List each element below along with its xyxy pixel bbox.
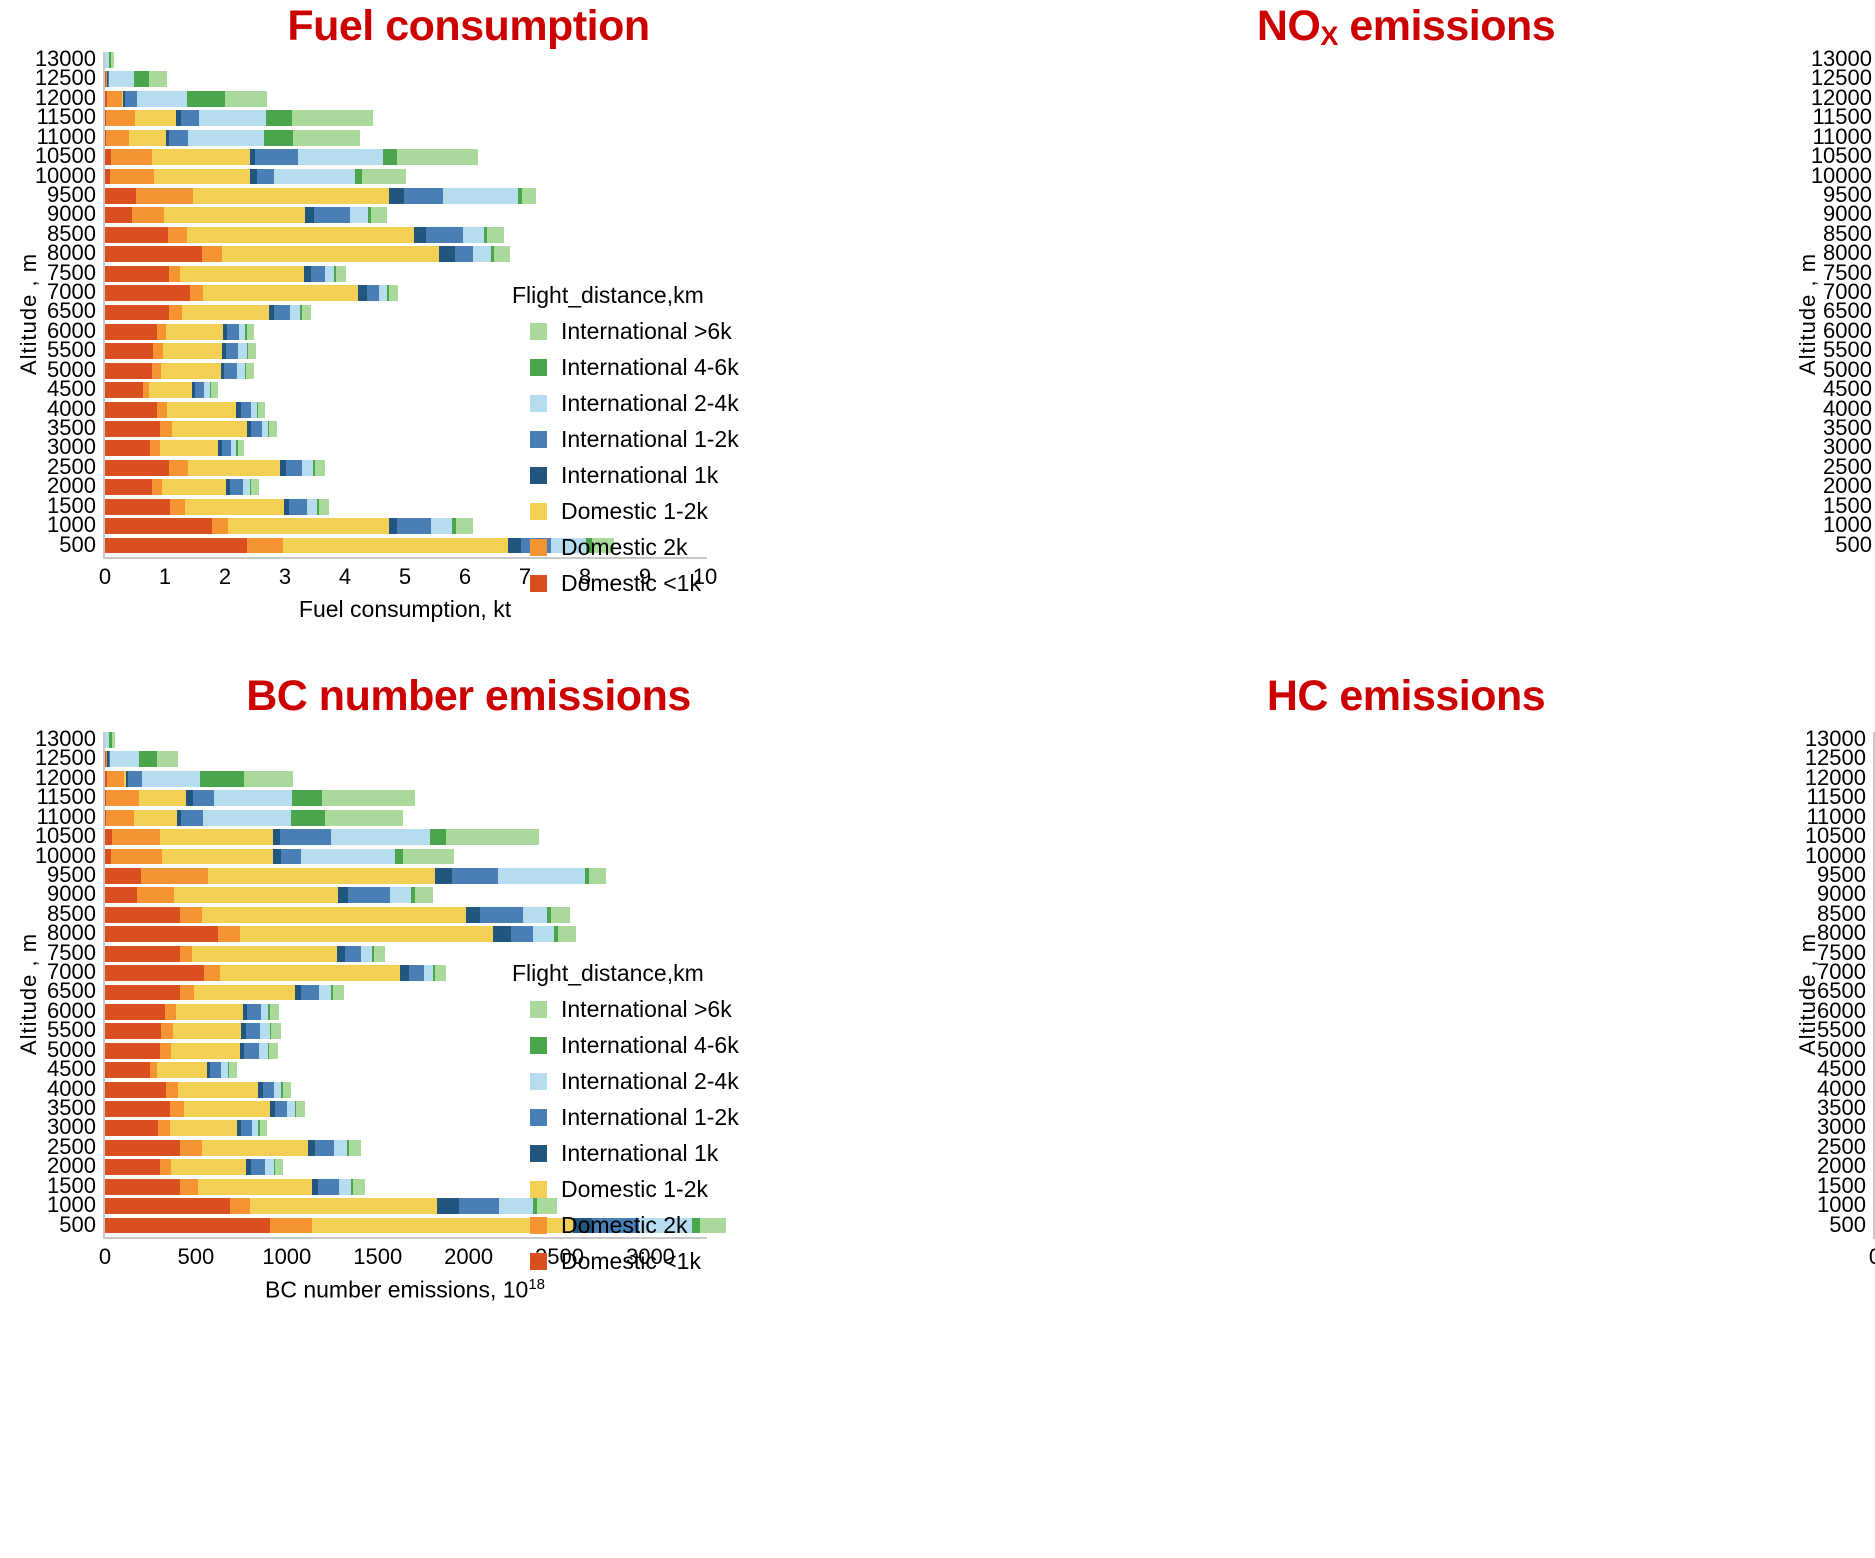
bar-segment <box>135 110 176 126</box>
x-axis-tick-label: 500 <box>178 1244 215 1270</box>
legend-swatch-icon <box>530 1001 547 1018</box>
bar-segment <box>105 1218 270 1234</box>
bar-segment <box>251 421 262 437</box>
bar-segment <box>157 402 167 418</box>
bar-segment <box>125 91 137 107</box>
chart-title: HC emissions <box>937 672 1875 721</box>
bar-segment <box>244 771 293 787</box>
bar-segment <box>150 440 160 456</box>
bar-segment <box>362 169 406 185</box>
bar-segment <box>190 285 203 301</box>
chart-grid: Fuel consumptionAltitude , m130001250012… <box>0 0 1875 1558</box>
bar-segment <box>298 149 383 165</box>
legend-item[interactable]: Domestic 1-2k <box>512 498 739 525</box>
bar-segment <box>187 91 225 107</box>
bar-segment <box>105 382 143 398</box>
bar-segment <box>180 985 195 1001</box>
bar-segment <box>241 402 251 418</box>
bar-segment <box>353 1179 365 1195</box>
bar-segment <box>202 246 222 262</box>
bar-segment <box>164 207 305 223</box>
bar-segment <box>105 518 212 534</box>
bar-row <box>105 91 267 107</box>
bar-row <box>105 440 244 456</box>
bar-segment <box>269 1043 278 1059</box>
bar-segment <box>136 188 193 204</box>
legend-swatch-icon <box>530 1037 547 1054</box>
bar-segment <box>455 246 474 262</box>
bar-segment <box>204 965 219 981</box>
bar-segment <box>160 421 172 437</box>
bar-segment <box>211 382 218 398</box>
bar-row <box>105 130 360 146</box>
bar-segment <box>220 965 400 981</box>
panel-hc-emissions: HC emissionsAltitude , m1300012500120001… <box>937 660 1875 1558</box>
y-axis-tick-label: 500 <box>1784 534 1875 556</box>
bar-row <box>105 907 570 923</box>
bar-segment <box>158 1120 170 1136</box>
chart-title: Fuel consumption <box>0 2 937 51</box>
bar-segment <box>111 149 152 165</box>
bar-segment <box>260 1023 270 1039</box>
bar-segment <box>459 1198 499 1214</box>
bar-segment <box>218 926 241 942</box>
bar-row <box>105 207 387 223</box>
bar-segment <box>251 1159 266 1175</box>
bar-segment <box>162 849 273 865</box>
bar-segment <box>397 149 477 165</box>
legend-item-label: International 2-4k <box>561 390 739 417</box>
bar-segment <box>105 1198 230 1214</box>
bar-segment <box>105 266 169 282</box>
bar-segment <box>150 1062 158 1078</box>
bar-segment <box>105 246 202 262</box>
legend-item[interactable]: International 1-2k <box>512 1104 739 1131</box>
bar-segment <box>105 868 141 884</box>
bar-segment <box>435 965 446 981</box>
legend-item[interactable]: International 1k <box>512 1140 739 1167</box>
bar-row <box>105 305 311 321</box>
bar-segment <box>374 946 385 962</box>
bar-segment <box>154 169 250 185</box>
bar-segment <box>105 1179 180 1195</box>
bar-segment <box>109 71 134 87</box>
bar-segment <box>367 285 380 301</box>
bar-row <box>105 285 398 301</box>
bar-row <box>105 52 114 68</box>
bar-segment <box>339 1179 350 1195</box>
bar-segment <box>348 887 390 903</box>
legend-swatch-icon <box>530 575 547 592</box>
panel-nox-emissions: NOX emissionsAltitude , m130001250012000… <box>937 0 1875 660</box>
bar-segment <box>105 324 157 340</box>
bar-segment <box>304 266 311 282</box>
bar-row <box>105 771 293 787</box>
legend-item[interactable]: International 2-4k <box>512 390 739 417</box>
bar-row <box>105 343 256 359</box>
bar-segment <box>250 169 257 185</box>
bar-segment <box>494 246 510 262</box>
legend-swatch-icon <box>530 1145 547 1162</box>
bar-segment <box>194 985 295 1001</box>
bar-segment <box>389 285 398 301</box>
bar-row <box>105 1062 237 1078</box>
bar-segment <box>188 460 279 476</box>
bar-segment <box>533 926 554 942</box>
bar-segment <box>246 363 254 379</box>
bar-segment <box>302 305 311 321</box>
bar-segment <box>208 868 435 884</box>
x-axis-tick-label: 6 <box>459 564 471 590</box>
bar-segment <box>132 207 164 223</box>
bar-segment <box>169 266 180 282</box>
bar-segment <box>244 1043 259 1059</box>
legend-swatch-icon <box>530 359 547 376</box>
bar-segment <box>325 810 402 826</box>
legend-item-label: International 2-4k <box>561 1068 739 1095</box>
bar-segment <box>308 1140 315 1156</box>
x-axis-title: NOX emissions, t <box>1761 596 1875 627</box>
legend-item[interactable]: Domestic 2k <box>512 1212 739 1239</box>
bar-segment <box>415 887 433 903</box>
legend-item[interactable]: Domestic <1k <box>512 1248 739 1275</box>
bar-segment <box>187 227 414 243</box>
bar-segment <box>301 985 319 1001</box>
bar-segment <box>149 71 167 87</box>
bar-segment <box>180 946 193 962</box>
bar-segment <box>263 1082 275 1098</box>
bar-row <box>105 887 433 903</box>
legend-item-label: Domestic <1k <box>561 570 701 597</box>
panel-bc-number-emissions: BC number emissionsAltitude , m130001250… <box>0 660 937 1558</box>
bar-segment <box>222 440 231 456</box>
bar-segment <box>203 810 292 826</box>
bar-segment <box>105 1023 161 1039</box>
bar-segment <box>397 518 431 534</box>
bar-segment <box>280 829 331 845</box>
bar-segment <box>230 479 243 495</box>
legend-item[interactable]: International 1k <box>512 462 739 489</box>
bar-segment <box>404 188 443 204</box>
bar-segment <box>106 130 129 146</box>
panel-fuel-consumption: Fuel consumptionAltitude , m130001250012… <box>0 0 937 660</box>
bar-segment <box>274 169 355 185</box>
bar-segment <box>170 1120 238 1136</box>
bar-segment <box>275 1159 283 1175</box>
bar-segment <box>157 1062 206 1078</box>
bar-row <box>105 169 406 185</box>
bar-segment <box>134 71 150 87</box>
legend-item[interactable]: Domestic 1-2k <box>512 1176 739 1203</box>
bar-segment <box>473 246 491 262</box>
bar-segment <box>195 382 204 398</box>
legend-swatch-icon <box>530 1253 547 1270</box>
bar-segment <box>180 907 203 923</box>
bar-segment <box>202 1140 307 1156</box>
bar-segment <box>160 440 218 456</box>
bar-segment <box>511 926 533 942</box>
bar-segment <box>463 227 483 243</box>
legend-swatch-icon <box>530 1181 547 1198</box>
bar-segment <box>160 829 273 845</box>
legend-item[interactable]: International >6k <box>512 996 739 1023</box>
bar-segment <box>238 343 246 359</box>
bar-segment <box>129 130 166 146</box>
legend-item[interactable]: International 1-2k <box>512 426 739 453</box>
legend-item-label: International 4-6k <box>561 1032 739 1059</box>
legend-swatch-icon <box>530 395 547 412</box>
bar-segment <box>243 479 250 495</box>
bar-segment <box>446 829 540 845</box>
bar-segment <box>498 868 585 884</box>
bar-segment <box>112 732 115 748</box>
bar-segment <box>170 499 185 515</box>
legend-item[interactable]: International 2-4k <box>512 1068 739 1095</box>
bar-segment <box>426 227 463 243</box>
x-axis-tick-label: 0 <box>99 1244 111 1270</box>
bar-row <box>105 1004 279 1020</box>
bar-segment <box>173 1023 241 1039</box>
bar-segment <box>361 946 372 962</box>
x-axis-tick-label: 0 <box>99 564 111 590</box>
x-axis-tick-label: 1000 <box>262 1244 311 1270</box>
legend-item-label: International 1k <box>561 462 718 489</box>
bar-segment <box>238 440 244 456</box>
bar-segment <box>247 538 283 554</box>
bar-segment <box>336 266 346 282</box>
bar-segment <box>169 130 188 146</box>
bar-segment <box>200 771 244 787</box>
bar-segment <box>165 1004 176 1020</box>
bar-segment <box>178 1082 258 1098</box>
bar-segment <box>262 421 269 437</box>
bar-segment <box>105 363 152 379</box>
bar-segment <box>302 460 313 476</box>
bar-segment <box>163 343 222 359</box>
bar-segment <box>105 343 153 359</box>
x-axis-tick-label: 5 <box>399 564 411 590</box>
bar-row <box>105 266 346 282</box>
bar-row <box>105 790 415 806</box>
bar-segment <box>389 188 404 204</box>
legend-item-label: International 4-6k <box>561 354 739 381</box>
bar-segment <box>395 849 403 865</box>
bar-segment <box>281 849 300 865</box>
bar-row <box>105 149 478 165</box>
bar-segment <box>389 518 397 534</box>
bar-segment <box>230 1198 249 1214</box>
bar-segment <box>258 402 265 418</box>
bar-segment <box>212 518 228 534</box>
bar-segment <box>292 110 372 126</box>
bar-segment <box>558 926 576 942</box>
bar-segment <box>228 518 389 534</box>
bar-segment <box>311 266 324 282</box>
bar-segment <box>222 246 439 262</box>
bar-segment <box>274 1082 281 1098</box>
bar-row <box>105 188 536 204</box>
legend-item[interactable]: International >6k <box>512 318 739 345</box>
bar-segment <box>105 965 204 981</box>
bar-segment <box>105 1062 150 1078</box>
legend-item-label: Domestic 1-2k <box>561 1176 708 1203</box>
bar-segment <box>452 868 497 884</box>
bar-segment <box>225 91 267 107</box>
legend-item[interactable]: International 4-6k <box>512 354 739 381</box>
bar-segment <box>523 907 547 923</box>
bar-segment <box>107 771 124 787</box>
legend-swatch-icon <box>530 1217 547 1234</box>
bar-segment <box>203 285 358 301</box>
bar-segment <box>271 1023 281 1039</box>
bar-segment <box>139 751 157 767</box>
bar-row <box>105 363 254 379</box>
bar-segment <box>355 169 362 185</box>
bar-segment <box>107 91 122 107</box>
bar-row <box>105 946 385 962</box>
bar-segment <box>248 343 256 359</box>
bar-segment <box>171 1159 246 1175</box>
bar-segment <box>180 266 304 282</box>
bar-segment <box>283 1082 291 1098</box>
bar-segment <box>322 790 416 806</box>
x-axis-tick-label: 3 <box>279 564 291 590</box>
legend-item-label: International >6k <box>561 318 732 345</box>
bar-segment <box>106 110 135 126</box>
bar-segment <box>105 829 112 845</box>
bar-segment <box>291 810 325 826</box>
legend-item-label: Domestic <1k <box>561 1248 701 1275</box>
bar-segment <box>247 1004 262 1020</box>
bar-segment <box>180 1140 203 1156</box>
bar-segment <box>105 479 152 495</box>
bar-segment <box>237 363 245 379</box>
bar-row <box>105 324 254 340</box>
bar-segment <box>240 926 493 942</box>
bar-segment <box>105 985 180 1001</box>
bar-segment <box>390 887 411 903</box>
bar-segment <box>270 1218 312 1234</box>
bar-segment <box>338 887 349 903</box>
legend-item[interactable]: Domestic 2k <box>512 534 739 561</box>
bar-row <box>105 460 325 476</box>
x-axis-tick-label: 1500 <box>353 1244 402 1270</box>
bar-segment <box>169 305 182 321</box>
bar-segment <box>480 907 523 923</box>
bar-segment <box>157 324 167 340</box>
bar-row <box>105 1140 361 1156</box>
bar-segment <box>105 1159 160 1175</box>
bar-segment <box>105 907 180 923</box>
bar-segment <box>160 1159 172 1175</box>
legend-item-label: International 1-2k <box>561 1104 739 1131</box>
bar-segment <box>128 771 142 787</box>
chart-title: NOX emissions <box>937 2 1875 51</box>
bar-segment <box>275 1101 288 1117</box>
bar-segment <box>430 829 446 845</box>
bar-segment <box>265 1159 273 1175</box>
legend-item[interactable]: International 4-6k <box>512 1032 739 1059</box>
bar-segment <box>334 1140 347 1156</box>
bar-segment <box>221 1062 228 1078</box>
bar-segment <box>105 538 247 554</box>
bar-segment <box>333 985 344 1001</box>
legend-item[interactable]: Domestic <1k <box>512 570 739 597</box>
bar-segment <box>105 946 180 962</box>
bar-segment <box>137 91 187 107</box>
bar-segment <box>318 1179 339 1195</box>
bar-segment <box>105 460 169 476</box>
bar-segment <box>214 790 292 806</box>
bar-segment <box>105 926 218 942</box>
bar-row <box>105 926 576 942</box>
bar-row <box>105 499 329 515</box>
bar-segment <box>142 771 200 787</box>
legend-swatch-icon <box>530 431 547 448</box>
bar-segment <box>379 285 387 301</box>
bar-segment <box>290 305 300 321</box>
bar-row <box>105 1159 283 1175</box>
bar-segment <box>105 1101 170 1117</box>
bar-segment <box>315 460 325 476</box>
bar-segment <box>487 227 504 243</box>
bar-segment <box>274 305 290 321</box>
bar-segment <box>435 868 452 884</box>
bar-segment <box>198 1179 313 1195</box>
bar-row <box>105 71 167 87</box>
bar-segment <box>257 169 274 185</box>
bar-segment <box>193 790 214 806</box>
bar-segment <box>139 790 186 806</box>
y-axis-tick-label: 500 <box>8 534 103 556</box>
bar-segment <box>137 887 174 903</box>
legend-swatch-icon <box>530 539 547 556</box>
bar-segment <box>184 1101 270 1117</box>
bar-segment <box>157 751 178 767</box>
bar-segment <box>443 188 518 204</box>
bar-segment <box>315 1140 334 1156</box>
bar-segment <box>152 149 249 165</box>
bar-segment <box>161 1023 173 1039</box>
bar-segment <box>134 810 178 826</box>
bar-segment <box>259 1043 268 1059</box>
bar-segment <box>371 207 387 223</box>
bar-segment <box>105 1004 165 1020</box>
x-axis-tick-label: 2 <box>219 564 231 590</box>
bar-segment <box>172 421 246 437</box>
x-axis-title: HC emissions, t <box>1755 1276 1875 1303</box>
bar-segment <box>589 868 606 884</box>
bar-row <box>105 965 446 981</box>
bar-segment <box>331 829 430 845</box>
bar-row <box>105 1101 305 1117</box>
bar-row <box>105 110 373 126</box>
bar-segment <box>287 1101 295 1117</box>
legend-item-label: Domestic 2k <box>561 534 688 561</box>
y-axis-tick-label: 500 <box>1778 1214 1873 1236</box>
bar-segment <box>261 1004 268 1020</box>
bar-segment <box>185 499 284 515</box>
bar-segment <box>493 926 511 942</box>
bar-segment <box>105 285 190 301</box>
bar-segment <box>296 1101 305 1117</box>
bar-segment <box>168 227 187 243</box>
bar-segment <box>105 499 170 515</box>
x-axis-tick-label: 2000 <box>444 1244 493 1270</box>
bar-segment <box>141 868 207 884</box>
legend-item-label: Domestic 2k <box>561 1212 688 1239</box>
x-axis-tick-label: 4 <box>339 564 351 590</box>
